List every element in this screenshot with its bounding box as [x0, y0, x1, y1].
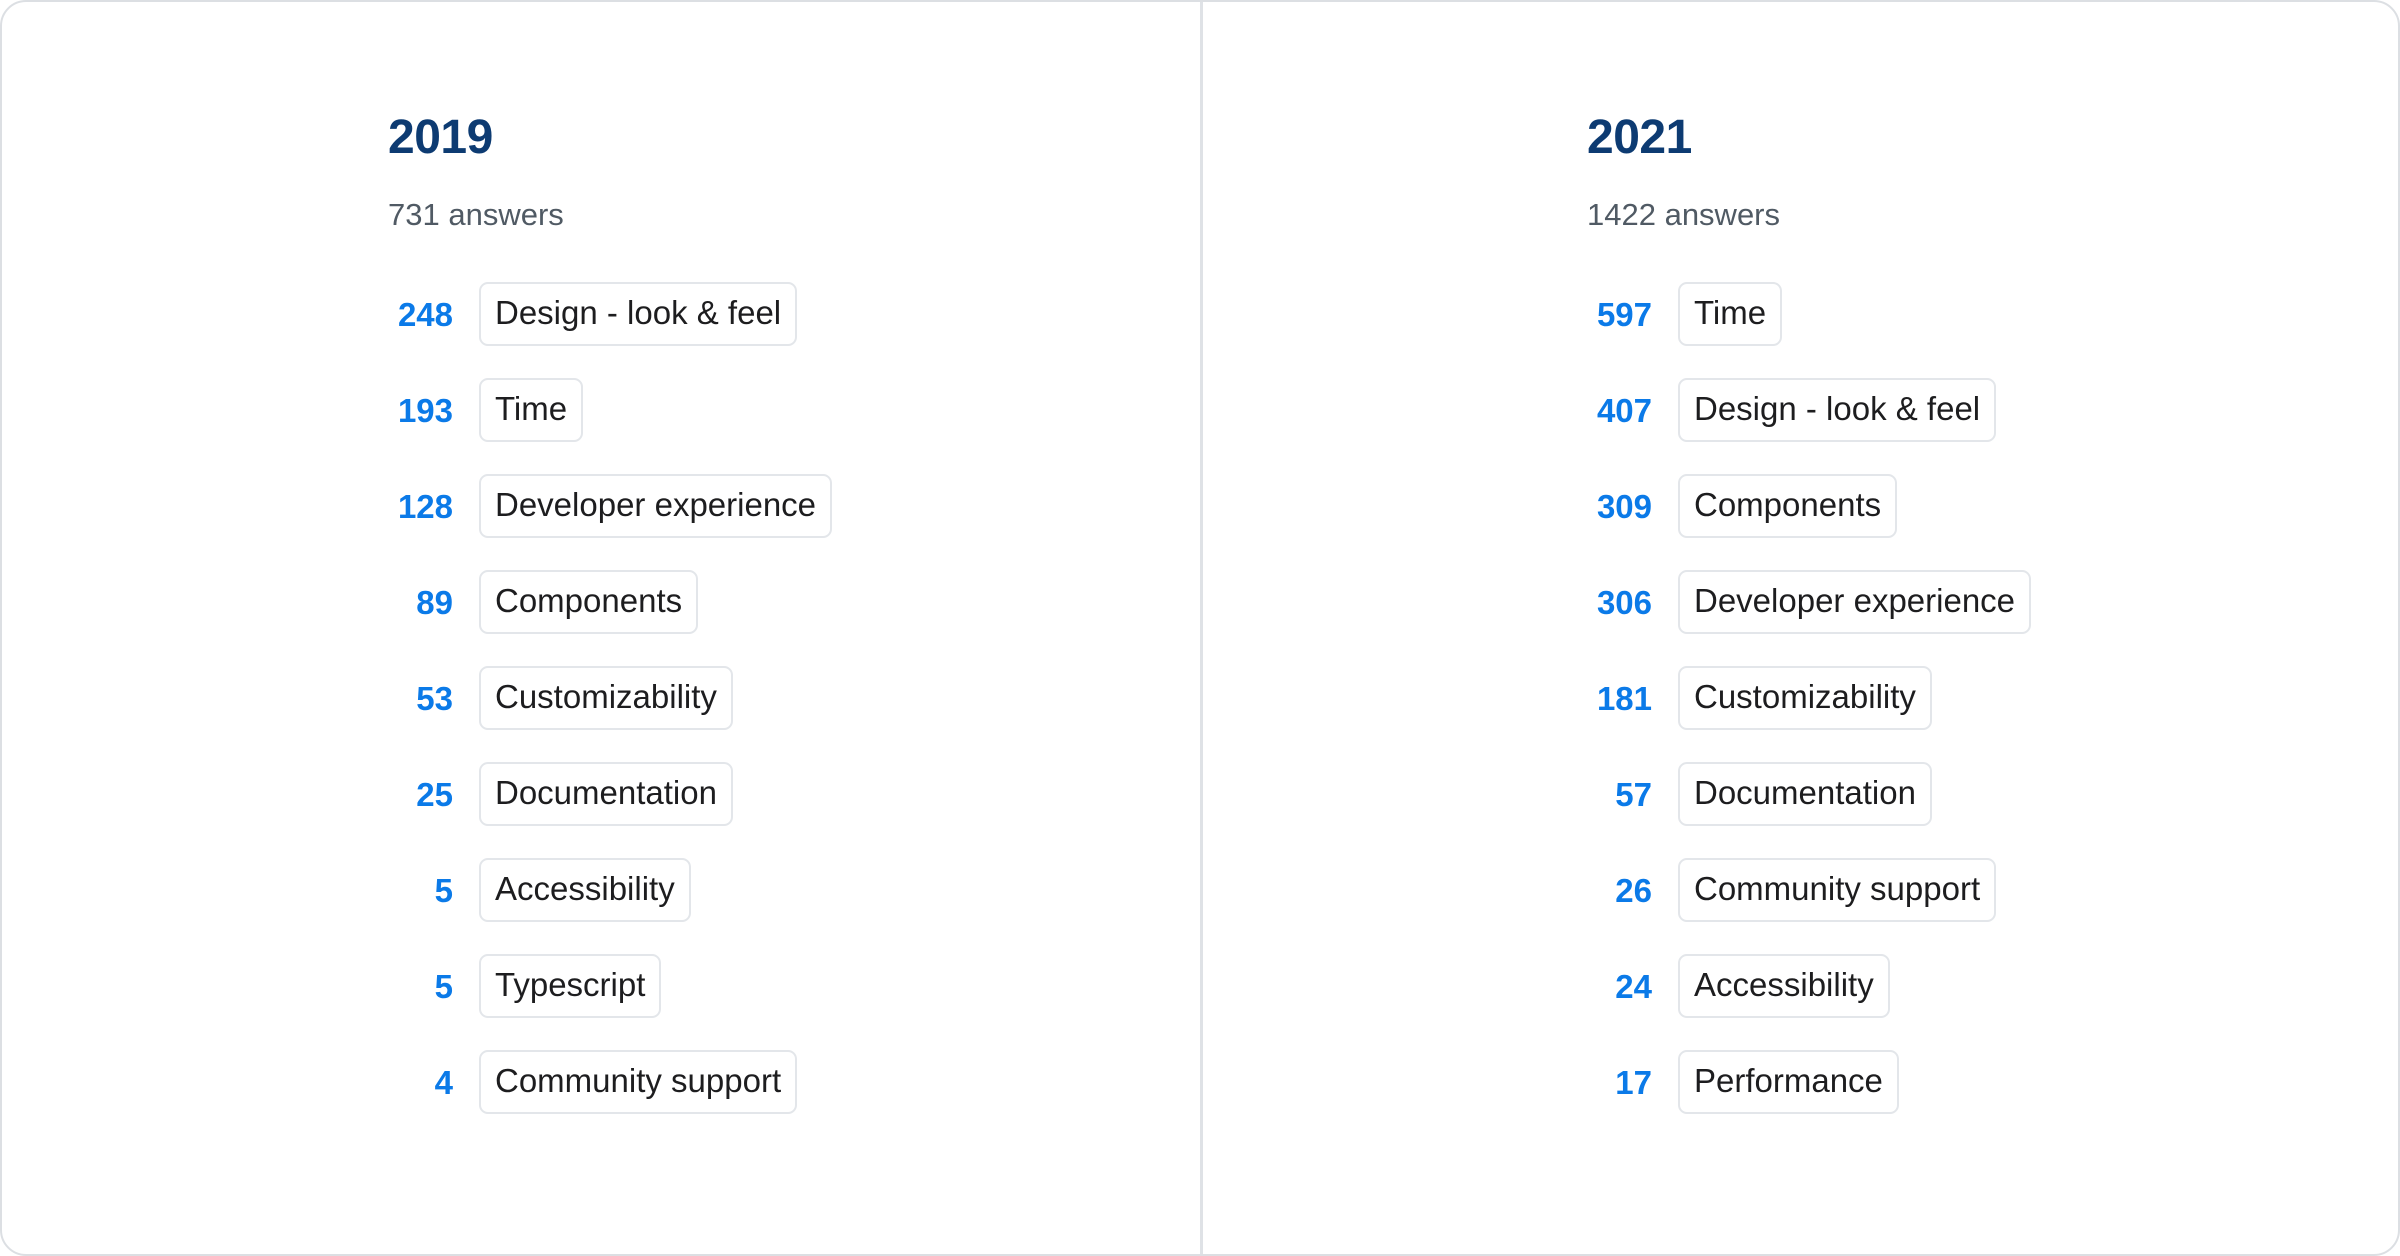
panel-year-heading: 2021	[1587, 114, 2398, 162]
panel-2019: 2019 731 answers 248 Design - look & fee…	[2, 2, 1200, 1254]
list-item[interactable]: 407 Design - look & feel	[1587, 375, 2398, 445]
row-count: 306	[1587, 586, 1652, 619]
row-count: 17	[1587, 1066, 1652, 1099]
list-item[interactable]: 5 Accessibility	[388, 855, 1200, 925]
row-label[interactable]: Customizability	[479, 666, 733, 730]
row-label[interactable]: Documentation	[1678, 762, 1932, 826]
row-label[interactable]: Components	[1678, 474, 1897, 538]
row-label[interactable]: Time	[1678, 282, 1782, 346]
list-item[interactable]: 25 Documentation	[388, 759, 1200, 829]
row-label[interactable]: Community support	[1678, 858, 1996, 922]
list-item[interactable]: 24 Accessibility	[1587, 951, 2398, 1021]
list-item[interactable]: 89 Components	[388, 567, 1200, 637]
list-item[interactable]: 57 Documentation	[1587, 759, 2398, 829]
list-item[interactable]: 26 Community support	[1587, 855, 2398, 925]
row-count: 248	[388, 298, 453, 331]
row-count: 25	[388, 778, 453, 811]
row-label[interactable]: Performance	[1678, 1050, 1899, 1114]
row-label[interactable]: Typescript	[479, 954, 661, 1018]
list-item[interactable]: 193 Time	[388, 375, 1200, 445]
panel-2021: 2021 1422 answers 597 Time 407 Design - …	[1200, 2, 2398, 1254]
row-count: 597	[1587, 298, 1652, 331]
row-label[interactable]: Design - look & feel	[1678, 378, 1996, 442]
row-count: 181	[1587, 682, 1652, 715]
row-label[interactable]: Accessibility	[1678, 954, 1890, 1018]
row-label[interactable]: Customizability	[1678, 666, 1932, 730]
row-count: 309	[1587, 490, 1652, 523]
list-item[interactable]: 306 Developer experience	[1587, 567, 2398, 637]
row-label[interactable]: Accessibility	[479, 858, 691, 922]
panel-answers-count: 1422 answers	[1587, 199, 2398, 230]
row-count: 193	[388, 394, 453, 427]
response-list-2019: 248 Design - look & feel 193 Time 128 De…	[388, 279, 1200, 1143]
panel-year-heading: 2019	[388, 114, 1200, 162]
list-item[interactable]: 181 Customizability	[1587, 663, 2398, 733]
row-count: 5	[388, 970, 453, 1003]
panel-answers-count: 731 answers	[388, 199, 1200, 230]
row-count: 26	[1587, 874, 1652, 907]
row-count: 89	[388, 586, 453, 619]
row-count: 128	[388, 490, 453, 523]
list-item[interactable]: 17 Performance	[1587, 1047, 2398, 1117]
row-label[interactable]: Components	[479, 570, 698, 634]
row-label[interactable]: Documentation	[479, 762, 733, 826]
row-count: 53	[388, 682, 453, 715]
comparison-card: 2019 731 answers 248 Design - look & fee…	[0, 0, 2400, 1256]
row-count: 5	[388, 874, 453, 907]
list-item[interactable]: 309 Components	[1587, 471, 2398, 541]
response-list-2021: 597 Time 407 Design - look & feel 309 Co…	[1587, 279, 2398, 1143]
row-count: 57	[1587, 778, 1652, 811]
list-item[interactable]: 597 Time	[1587, 279, 2398, 349]
list-item[interactable]: 128 Developer experience	[388, 471, 1200, 541]
row-count: 407	[1587, 394, 1652, 427]
row-count: 24	[1587, 970, 1652, 1003]
row-label[interactable]: Design - look & feel	[479, 282, 797, 346]
row-label[interactable]: Developer experience	[479, 474, 832, 538]
list-item[interactable]: 53 Customizability	[388, 663, 1200, 733]
list-item[interactable]: 5 Typescript	[388, 951, 1200, 1021]
list-item[interactable]: 248 Design - look & feel	[388, 279, 1200, 349]
row-count: 4	[388, 1066, 453, 1099]
row-label[interactable]: Developer experience	[1678, 570, 2031, 634]
list-item[interactable]: 4 Community support	[388, 1047, 1200, 1117]
row-label[interactable]: Time	[479, 378, 583, 442]
row-label[interactable]: Community support	[479, 1050, 797, 1114]
